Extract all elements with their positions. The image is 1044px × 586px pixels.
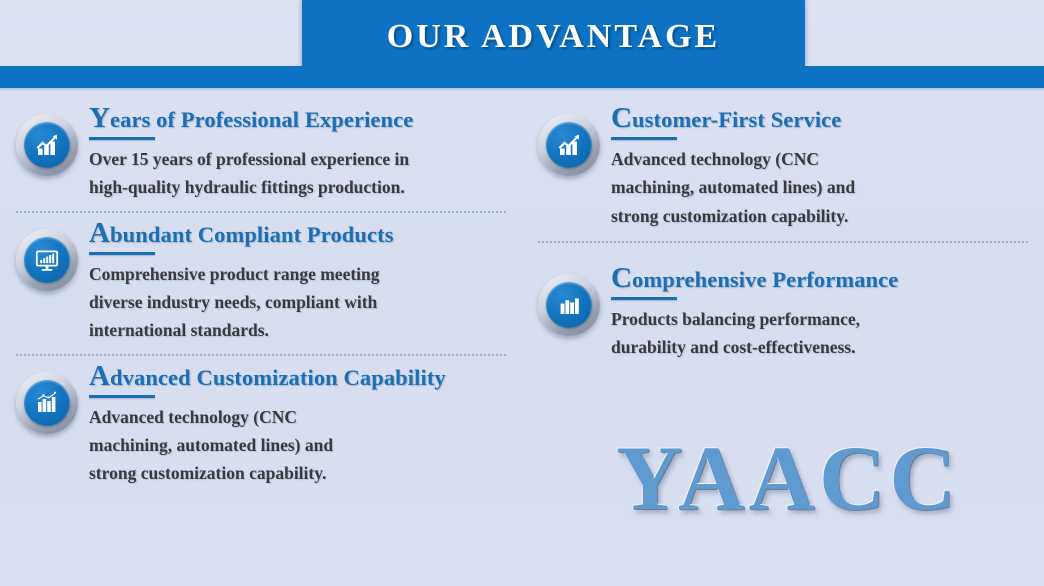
feature-heading: Years of Professional Experience	[89, 108, 413, 132]
left-column: Years of Professional Experience Over 15…	[0, 92, 522, 488]
bar-chart-trend-icon	[16, 372, 78, 434]
body-line: Advanced technology (CNC	[89, 403, 508, 431]
section-divider	[538, 241, 1028, 243]
heading-rest: ustomer-First Service	[632, 107, 841, 132]
feature-advanced-customization-capability: Advanced Customization Capability Advanc…	[0, 366, 522, 488]
heading-dropcap: A	[89, 217, 110, 249]
body-line: strong customization capability.	[611, 202, 1030, 230]
heading-dropcap: C	[611, 102, 632, 134]
feature-years-of-professional-experience: Years of Professional Experience Over 15…	[0, 108, 522, 202]
body-line: durability and cost-effectiveness.	[611, 333, 1030, 361]
heading-rest: ears of Professional Experience	[110, 107, 413, 132]
body-line: Comprehensive product range meeting	[89, 260, 508, 288]
feature-body: Advanced technology (CNC machining, auto…	[611, 145, 1030, 230]
body-line: machining, automated lines) and	[611, 173, 1030, 201]
feature-body: Advanced technology (CNC machining, auto…	[89, 403, 508, 488]
section-divider	[16, 354, 506, 356]
body-line: diverse industry needs, compliant with	[89, 288, 508, 316]
feature-comprehensive-performance: Comprehensive Performance Products balan…	[522, 268, 1044, 362]
feature-heading: Advanced Customization Capability	[89, 366, 446, 390]
feature-heading: Customer-First Service	[611, 108, 841, 132]
title-block: OUR ADVANTAGE	[302, 0, 805, 67]
feature-heading: Abundant Compliant Products	[89, 223, 394, 247]
body-line: high-quality hydraulic fittings producti…	[89, 173, 508, 201]
feature-body: Products balancing performance, durabili…	[611, 305, 1030, 362]
header-accent-bar	[0, 66, 1044, 88]
feature-body: Over 15 years of professional experience…	[89, 145, 508, 202]
feature-heading: Comprehensive Performance	[611, 268, 898, 292]
heading-underline	[89, 137, 155, 140]
body-line: Products balancing performance,	[611, 305, 1030, 333]
page-title: OUR ADVANTAGE	[302, 18, 805, 56]
heading-underline	[611, 297, 677, 300]
body-line: machining, automated lines) and	[89, 431, 508, 459]
company-logo: YAACC	[588, 432, 988, 524]
chart-growth-arrow-icon	[16, 114, 78, 176]
section-divider	[16, 211, 506, 213]
body-line: international standards.	[89, 316, 508, 344]
chart-growth-arrow-icon	[538, 114, 600, 176]
right-column: Customer-First Service Advanced technolo…	[522, 92, 1044, 362]
heading-rest: omprehensive Performance	[632, 267, 898, 292]
heading-dropcap: C	[611, 262, 632, 294]
body-line: Advanced technology (CNC	[611, 145, 1030, 173]
bar-chart-solid-icon	[538, 274, 600, 336]
heading-underline	[89, 252, 155, 255]
feature-text: Abundant Compliant Products Comprehensiv…	[78, 223, 508, 345]
header-bar-shadow	[0, 88, 1044, 91]
heading-underline	[611, 137, 677, 140]
body-line: Over 15 years of professional experience…	[89, 145, 508, 173]
feature-body: Comprehensive product range meeting dive…	[89, 260, 508, 345]
body-line: strong customization capability.	[89, 459, 508, 487]
feature-abundant-compliant-products: Abundant Compliant Products Comprehensiv…	[0, 223, 522, 345]
monitor-bar-chart-icon	[16, 229, 78, 291]
advantage-slide: OUR ADVANTAGE Years of	[0, 0, 1044, 586]
feature-text: Comprehensive Performance Products balan…	[600, 268, 1030, 362]
feature-text: Years of Professional Experience Over 15…	[78, 108, 508, 202]
feature-text: Customer-First Service Advanced technolo…	[600, 108, 1030, 230]
heading-dropcap: A	[89, 360, 110, 392]
heading-rest: bundant Compliant Products	[110, 222, 394, 247]
feature-customer-first-service: Customer-First Service Advanced technolo…	[522, 108, 1044, 230]
heading-dropcap: Y	[89, 102, 110, 134]
heading-underline	[89, 395, 155, 398]
feature-text: Advanced Customization Capability Advanc…	[78, 366, 508, 488]
heading-rest: dvanced Customization Capability	[110, 365, 446, 390]
